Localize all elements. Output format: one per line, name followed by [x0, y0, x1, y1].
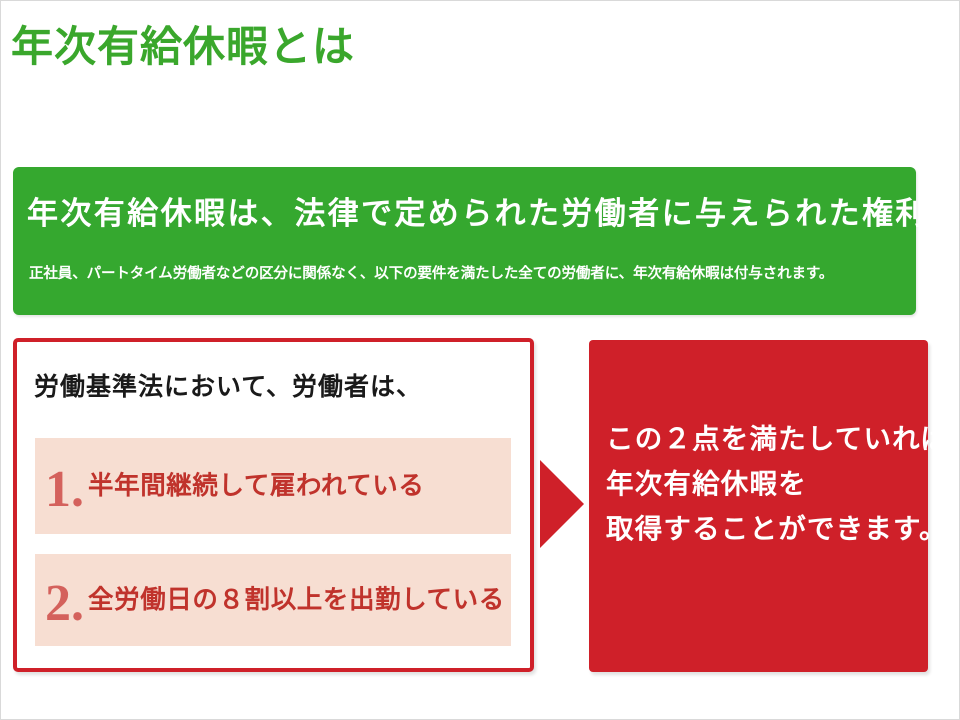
condition-number-1: 1. — [45, 464, 88, 516]
condition-item-1: 1. 半年間継続して雇われている — [35, 438, 511, 534]
conditions-box: 労働基準法において、労働者は、 1. 半年間継続して雇われている 2. 全労働日… — [13, 338, 534, 672]
result-line-1: この２点を満たしていれば — [606, 416, 916, 461]
green-banner: 年次有給休暇は、法律で定められた労働者に与えられた権利です。 正社員、パートタイ… — [13, 167, 916, 315]
result-text-block: この２点を満たしていれば 年次有給休暇を 取得することができます。 — [606, 416, 916, 551]
slide-canvas: 年次有給休暇とは 年次有給休暇は、法律で定められた労働者に与えられた権利です。 … — [0, 0, 960, 720]
condition-text-2: 全労働日の８割以上を出勤している — [88, 584, 505, 616]
condition-item-2: 2. 全労働日の８割以上を出勤している — [35, 554, 511, 646]
condition-text-1: 半年間継続して雇われている — [88, 470, 425, 502]
conditions-lead-text: 労働基準法において、労働者は、 — [34, 370, 422, 404]
green-banner-note: 正社員、パートタイム労働者などの区分に関係なく、以下の要件を満たした全ての労働者… — [29, 264, 909, 284]
result-line-2: 年次有給休暇を — [606, 461, 916, 506]
page-title: 年次有給休暇とは — [11, 19, 711, 75]
result-line-3: 取得することができます。 — [606, 506, 916, 551]
result-box: この２点を満たしていれば 年次有給休暇を 取得することができます。 — [589, 340, 928, 672]
triangle-right-icon — [540, 460, 584, 548]
condition-number-2: 2. — [45, 578, 88, 630]
green-banner-heading: 年次有給休暇は、法律で定められた労働者に与えられた権利です。 — [27, 195, 907, 233]
